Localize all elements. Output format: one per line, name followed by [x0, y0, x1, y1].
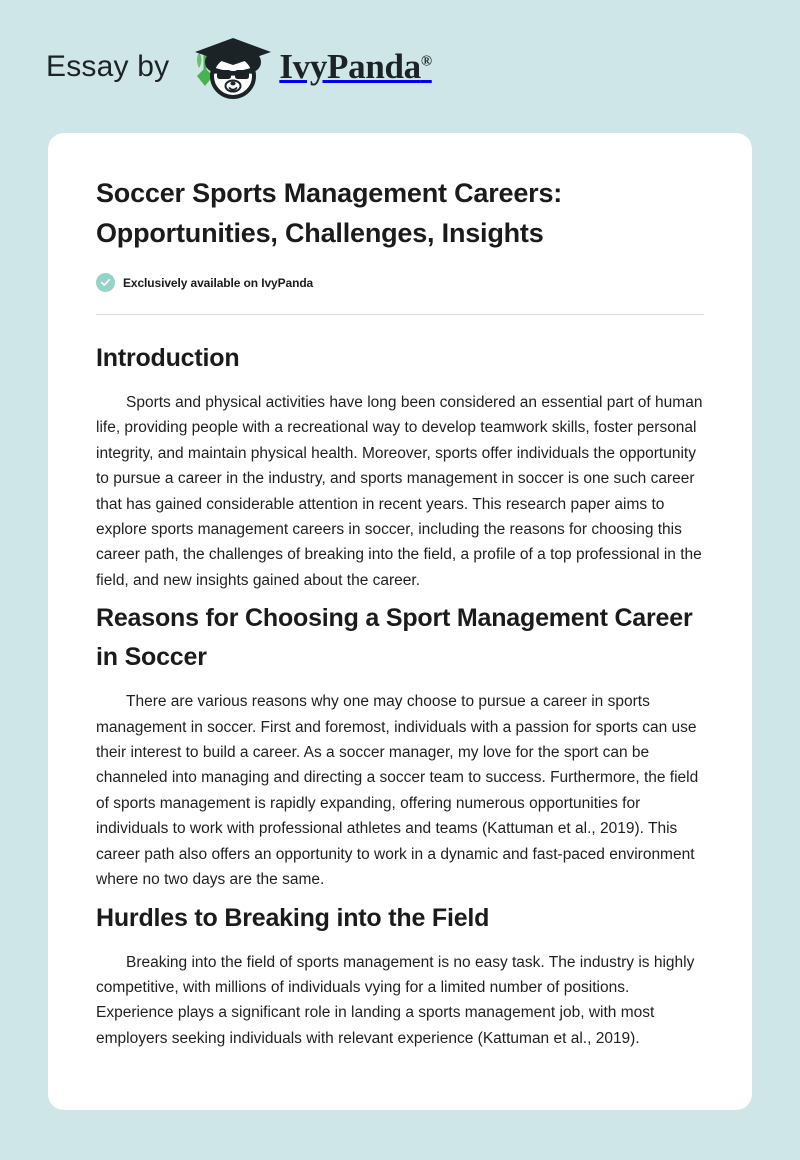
section-paragraph: Breaking into the field of sports manage…: [96, 950, 704, 1052]
essay-by-label: Essay by: [46, 50, 169, 84]
section-heading: Hurdles to Breaking into the Field: [96, 899, 704, 938]
registered-mark: ®: [421, 53, 432, 69]
exclusivity-badge: Exclusively available on IvyPanda: [96, 273, 704, 292]
header-divider: [96, 314, 704, 315]
status-badge-label: Exclusively available on IvyPanda: [123, 276, 313, 290]
brand-name-text: IvyPanda: [279, 47, 421, 86]
section-heading: Reasons for Choosing a Sport Management …: [96, 599, 704, 677]
section-paragraph: There are various reasons why one may ch…: [96, 689, 704, 892]
section-heading: Introduction: [96, 339, 704, 378]
page-title: Soccer Sports Management Careers: Opport…: [96, 173, 696, 253]
section-paragraph: Sports and physical activities have long…: [96, 390, 704, 593]
check-circle-icon: [96, 273, 115, 292]
brand-wordmark: IvyPanda®: [279, 49, 431, 84]
section-introduction: Introduction Sports and physical activit…: [96, 339, 704, 593]
document-card: Soccer Sports Management Careers: Opport…: [48, 133, 752, 1110]
brand-header: Essay by: [0, 0, 800, 133]
ivypanda-panda-graduation-logo-icon: [185, 34, 277, 100]
ivypanda-logo-link[interactable]: IvyPanda®: [185, 34, 431, 100]
section-reasons-for-choosing: Reasons for Choosing a Sport Management …: [96, 599, 704, 892]
section-hurdles: Hurdles to Breaking into the Field Break…: [96, 899, 704, 1052]
